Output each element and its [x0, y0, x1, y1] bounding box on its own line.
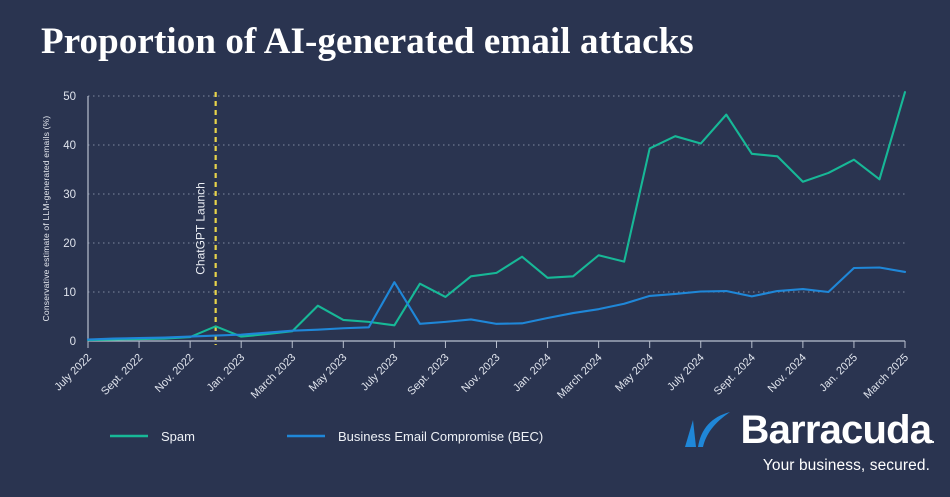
y-tick-label: 50 — [63, 91, 76, 103]
x-tick-label: July 2022 — [52, 352, 94, 394]
chart-page: Proportion of AI-generated email attacks… — [0, 0, 950, 497]
brand-name: Barracuda. — [741, 410, 934, 450]
x-tick-label: Nov. 2022 — [153, 352, 196, 395]
x-tick-label: Jan. 2023 — [205, 352, 248, 395]
brand-tagline: Your business, secured. — [666, 457, 930, 475]
brand-row: Barracuda. — [666, 409, 934, 451]
x-tick-label: Jan. 2025 — [817, 352, 860, 395]
x-tick-label: May 2024 — [613, 352, 656, 395]
chatgpt-launch-annotation: ChatGPT Launch — [194, 92, 216, 345]
brand-registered-mark: . — [931, 431, 934, 446]
x-tick-label: March 2024 — [555, 352, 605, 402]
x-tick-label: Sept. 2022 — [99, 352, 145, 398]
series-line-spam — [88, 92, 905, 340]
gridlines — [88, 96, 905, 341]
x-axis-ticks: July 2022Sept. 2022Nov. 2022Jan. 2023Mar… — [52, 341, 911, 401]
x-tick-label: Nov. 2024 — [766, 352, 809, 395]
y-tick-label: 40 — [63, 140, 76, 152]
x-tick-label: May 2023 — [307, 352, 350, 395]
y-axis-title: Conservative estimate of LLM-generated e… — [41, 116, 51, 322]
legend-label-2[interactable]: Business Email Compromise (BEC) — [338, 429, 543, 444]
y-tick-label: 0 — [70, 336, 76, 348]
x-tick-label: Jan. 2024 — [511, 352, 554, 395]
y-tick-label: 10 — [63, 287, 76, 299]
barracuda-logo: Barracuda. Your business, secured. — [666, 409, 934, 487]
x-tick-label: Sept. 2024 — [712, 352, 758, 398]
legend-label-1[interactable]: Spam — [161, 429, 195, 444]
y-axis-ticks: 01020304050 — [63, 91, 76, 348]
data-series — [88, 92, 905, 340]
brand-name-text: Barracuda — [741, 408, 932, 452]
x-tick-label: Nov. 2023 — [459, 352, 502, 395]
axes — [88, 96, 905, 341]
annotation-label: ChatGPT Launch — [194, 182, 208, 275]
barracuda-fin-icon — [681, 409, 733, 451]
y-axis-title-text: Conservative estimate of LLM-generated e… — [41, 116, 51, 322]
chart-legend[interactable]: SpamBusiness Email Compromise (BEC) — [110, 429, 543, 444]
x-tick-label: July 2023 — [359, 352, 401, 394]
x-tick-label: March 2023 — [249, 352, 299, 402]
x-tick-label: March 2025 — [862, 352, 912, 402]
x-tick-label: Sept. 2023 — [405, 352, 451, 398]
y-tick-label: 20 — [63, 238, 76, 250]
y-tick-label: 30 — [63, 189, 76, 201]
x-tick-label: July 2024 — [665, 352, 707, 394]
